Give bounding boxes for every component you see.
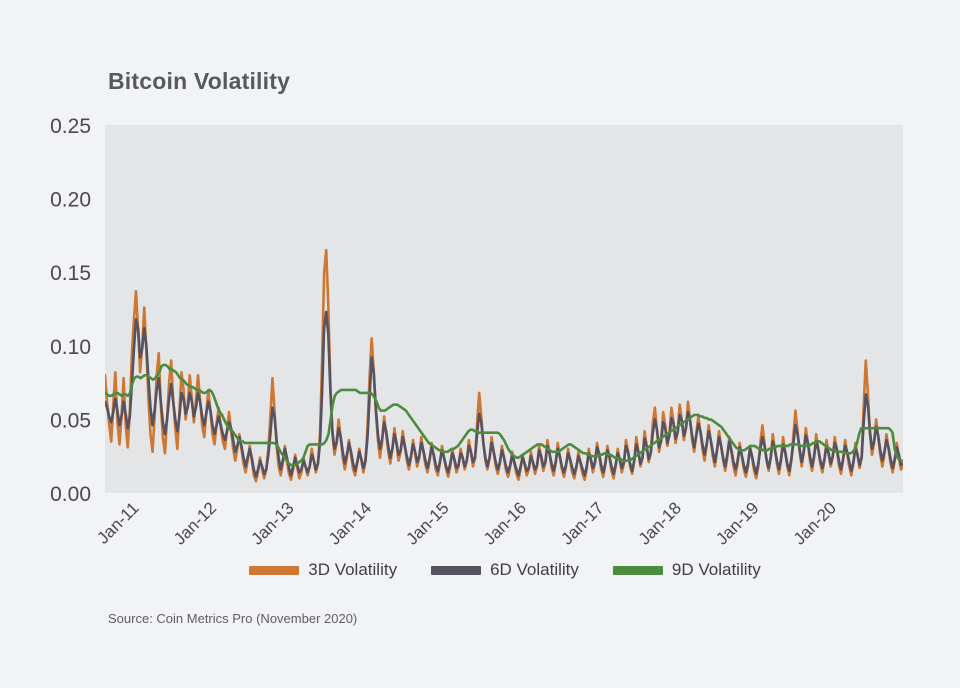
source-note: Source: Coin Metrics Pro (November 2020) bbox=[108, 611, 357, 626]
y-tick-label: 0.10 bbox=[50, 336, 91, 359]
x-tick-label: Jan-13 bbox=[247, 498, 297, 548]
y-tick-label: 0.15 bbox=[50, 262, 91, 285]
legend-item-label: 6D Volatility bbox=[490, 560, 579, 580]
legend-color-swatch bbox=[613, 566, 663, 575]
x-tick-label: Jan-11 bbox=[93, 498, 142, 547]
x-tick-label: Jan-14 bbox=[325, 498, 375, 548]
legend-item-label: 3D Volatility bbox=[308, 560, 397, 580]
legend-item[interactable]: 9D Volatility bbox=[613, 560, 761, 580]
x-tick-label: Jan-18 bbox=[635, 498, 685, 548]
x-tick-label: Jan-16 bbox=[480, 498, 530, 548]
y-tick-label: 0.20 bbox=[50, 189, 91, 212]
legend-item[interactable]: 6D Volatility bbox=[431, 560, 579, 580]
y-tick-label: 0.05 bbox=[50, 409, 91, 432]
legend-color-swatch bbox=[249, 566, 299, 575]
volatility-line-chart: 0.250.200.150.100.050.00 Jan-11Jan-12Jan… bbox=[0, 0, 960, 688]
chart-figure: Bitcoin Volatility 0.250.200.150.100.050… bbox=[0, 0, 960, 688]
x-tick-label: Jan-20 bbox=[790, 498, 840, 548]
x-axis-tick-labels: Jan-11Jan-12Jan-13Jan-14Jan-15Jan-16Jan-… bbox=[93, 498, 840, 548]
y-tick-label: 0.00 bbox=[50, 483, 91, 506]
y-tick-label: 0.25 bbox=[50, 115, 91, 138]
x-tick-label: Jan-12 bbox=[170, 498, 220, 548]
chart-legend: 3D Volatility6D Volatility9D Volatility bbox=[105, 560, 905, 580]
legend-item[interactable]: 3D Volatility bbox=[249, 560, 397, 580]
x-tick-label: Jan-15 bbox=[402, 498, 452, 548]
legend-color-swatch bbox=[431, 566, 481, 575]
legend-item-label: 9D Volatility bbox=[672, 560, 761, 580]
x-tick-label: Jan-19 bbox=[712, 498, 762, 548]
x-tick-label: Jan-17 bbox=[557, 498, 607, 548]
y-axis-tick-labels: 0.250.200.150.100.050.00 bbox=[50, 115, 91, 506]
